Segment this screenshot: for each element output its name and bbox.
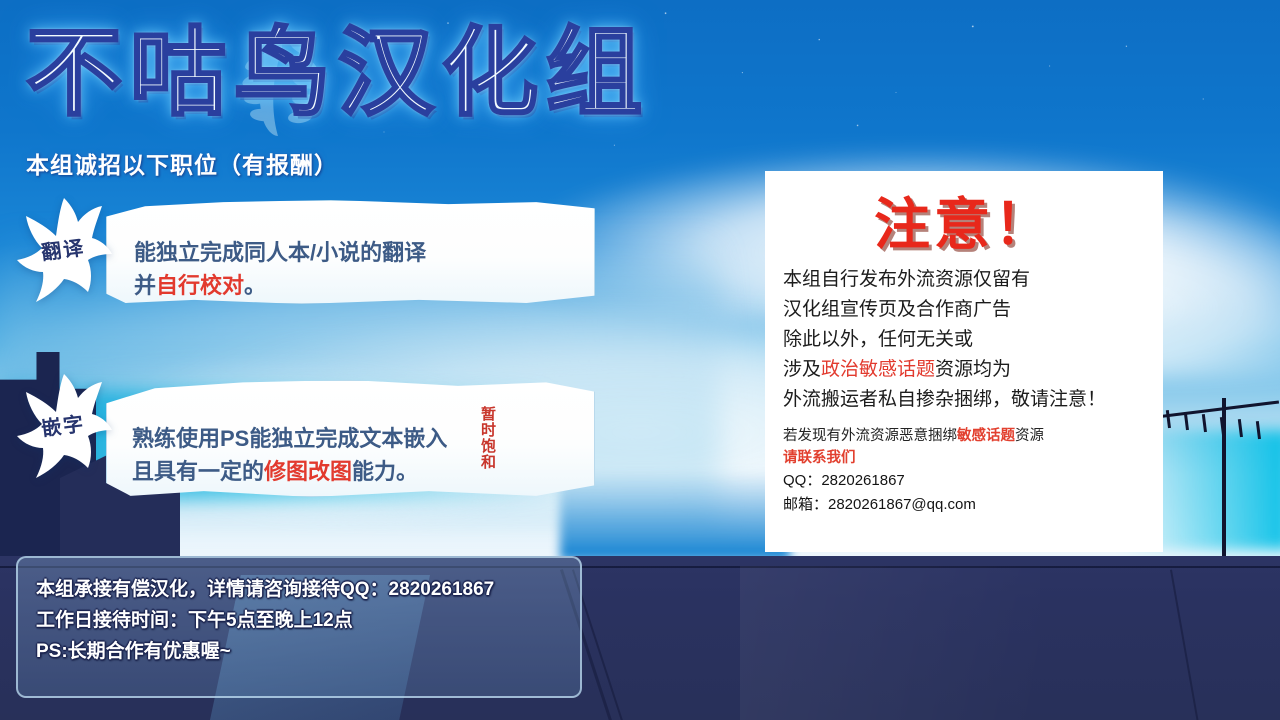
requirement-line-2: 且具有一定的修图改图能力。 xyxy=(132,455,447,488)
contact-us-link[interactable]: 请联系我们 xyxy=(783,447,1145,469)
ribbon-text-block: 能独立完成同人本/小说的翻译 并自行校对。 xyxy=(134,236,426,302)
header-title-block: 不咕鸟汉化组 xyxy=(26,14,756,138)
notice-text: 资源均为 xyxy=(935,359,1011,380)
page-title: 不咕鸟汉化组 xyxy=(26,14,650,132)
requirement-text: 能独立完成同人本/小说的翻译 xyxy=(134,240,426,265)
service-info-box: 本组承接有偿汉化，详情请咨询接待QQ：2820261867 工作日接待时间：下午… xyxy=(16,556,582,698)
notice-panel: 注意！ 本组自行发布外流资源仅留有 汉化组宣传页及合作商广告 除此以外，任何无关… xyxy=(765,171,1163,552)
page-subtitle: 本组诚招以下职位（有报酬） xyxy=(26,146,338,180)
badge-translation: 翻译 xyxy=(14,196,122,308)
notice-title: 注意！ xyxy=(765,193,1163,257)
qq-contact: QQ：2820261867 xyxy=(783,469,1145,493)
service-line-2: 工作日接待时间：下午5点至晚上12点 xyxy=(36,605,580,636)
service-line-1: 本组承接有偿汉化，详情请咨询接待QQ：2820261867 xyxy=(36,574,580,605)
status-badge-saturated: 暂时饱和 xyxy=(478,406,497,470)
notice-contact-block: 若发现有外流资源恶意捆绑敏感话题资源 请联系我们 QQ：2820261867 邮… xyxy=(783,425,1145,517)
notice-text: 除此以外，任何无关或 xyxy=(783,329,973,350)
notice-line: 除此以外，任何无关或 xyxy=(783,325,1145,355)
requirement-text: 且具有一定的 xyxy=(132,459,264,484)
notice-text: 资源 xyxy=(1015,428,1044,444)
ribbon-text-block: 熟练使用PS能独立完成文本嵌入 且具有一定的修图改图能力。 xyxy=(132,422,447,488)
requirement-line-1: 熟练使用PS能独立完成文本嵌入 xyxy=(132,422,447,455)
position-ribbon-translation: 能独立完成同人本/小说的翻译 并自行校对。 xyxy=(106,200,593,302)
notice-text: 涉及 xyxy=(783,359,821,380)
notice-line: 本组自行发布外流资源仅留有 xyxy=(783,265,1145,295)
notice-subnote: 若发现有外流资源恶意捆绑敏感话题资源 xyxy=(783,425,1145,447)
requirement-text: 能力。 xyxy=(352,459,418,484)
requirement-text: 熟练使用PS能独立完成文本嵌入 xyxy=(132,426,447,451)
notice-text: 外流搬运者私自掺杂捆绑，敬请注意！ xyxy=(783,389,1106,410)
requirement-line-2: 并自行校对。 xyxy=(134,269,426,302)
requirement-highlight: 自行校对 xyxy=(156,273,244,298)
email-contact: 邮箱：2820261867@qq.com xyxy=(783,493,1145,517)
notice-text: 本组自行发布外流资源仅留有 xyxy=(783,269,1030,290)
notice-body: 本组自行发布外流资源仅留有 汉化组宣传页及合作商广告 除此以外，任何无关或 涉及… xyxy=(783,265,1145,415)
requirement-highlight: 修图改图 xyxy=(264,459,352,484)
badge-typesetting: 嵌字 xyxy=(14,372,122,484)
rooftop-sheen xyxy=(740,566,1040,720)
notice-line: 涉及政治敏感话题资源均为 xyxy=(783,355,1145,385)
banner-canvas: 不咕鸟汉化组 本组诚招以下职位（有报酬） 能独立完成同人本/小说的翻译 并自行校… xyxy=(0,0,1280,720)
position-ribbon-typesetting: 熟练使用PS能独立完成文本嵌入 且具有一定的修图改图能力。 暂时饱和 xyxy=(106,380,593,495)
requirement-line-1: 能独立完成同人本/小说的翻译 xyxy=(134,236,426,269)
service-line-3: PS:长期合作有优惠喔~ xyxy=(36,636,580,667)
notice-text: 汉化组宣传页及合作商广告 xyxy=(783,299,1011,320)
requirement-text: 。 xyxy=(244,273,266,298)
notice-line: 汉化组宣传页及合作商广告 xyxy=(783,295,1145,325)
notice-text: 若发现有外流资源恶意捆绑 xyxy=(783,428,957,444)
notice-highlight: 敏感话题 xyxy=(957,428,1015,444)
notice-highlight: 政治敏感话题 xyxy=(821,359,935,380)
notice-line: 外流搬运者私自掺杂捆绑，敬请注意！ xyxy=(783,385,1145,415)
requirement-text: 并 xyxy=(134,273,156,298)
